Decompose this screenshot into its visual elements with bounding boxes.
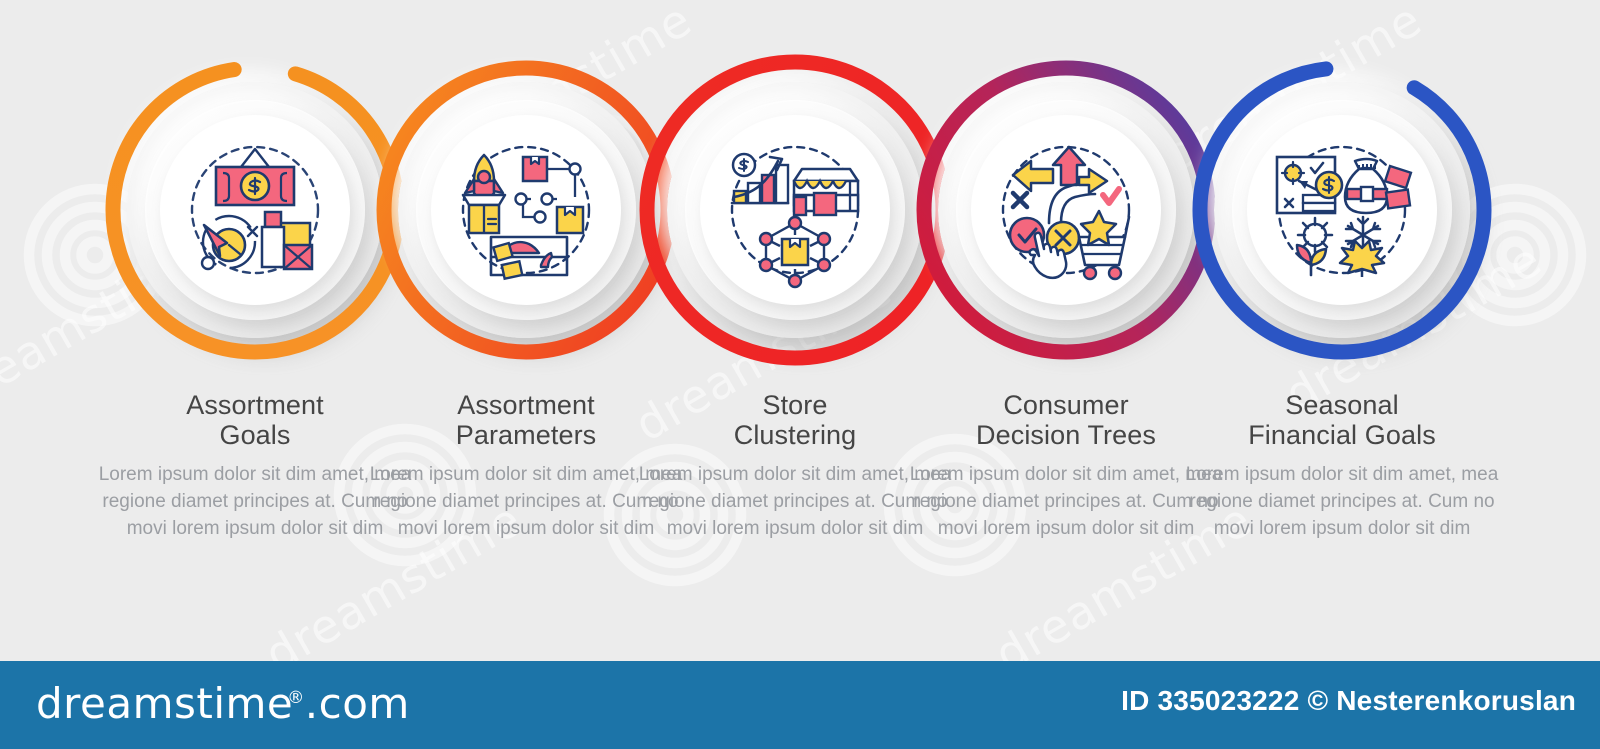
brand-name: dreamstime xyxy=(36,679,293,728)
step-1-progress-arc xyxy=(105,60,405,360)
step-5-title: SeasonalFinancial Goals xyxy=(1184,390,1500,450)
step-3-title: StoreClustering xyxy=(637,390,953,450)
step-4-progress-arc xyxy=(916,60,1216,360)
step-4-body: Lorem ipsum dolor sit dim amet, mea regi… xyxy=(908,462,1224,543)
step-1-body: Lorem ipsum dolor sit dim amet, mea regi… xyxy=(97,462,413,543)
step-4-title: ConsumerDecision Trees xyxy=(908,390,1224,450)
infographic-stage: AssortmentGoals Lorem ipsum dolor sit di… xyxy=(0,0,1600,749)
image-credit: ID 335023222 © Nesterenkoruslan xyxy=(1121,685,1576,717)
infographic-step-1[interactable]: AssortmentGoals Lorem ipsum dolor sit di… xyxy=(105,60,405,720)
step-5-progress-arc xyxy=(1192,60,1492,360)
infographic-step-2[interactable]: AssortmentParameters Lorem ipsum dolor s… xyxy=(376,60,676,720)
registered-mark-icon: ® xyxy=(287,688,305,708)
step-3-body: Lorem ipsum dolor sit dim amet, mea regi… xyxy=(637,462,953,543)
step-5-body: Lorem ipsum dolor sit dim amet, mea regi… xyxy=(1184,462,1500,543)
dreamstime-logo[interactable]: dreamstime®.com xyxy=(36,679,410,728)
step-3-caption: StoreClustering Lorem ipsum dolor sit di… xyxy=(637,390,953,543)
step-4-ring xyxy=(916,60,1216,360)
step-3-progress-arc xyxy=(645,60,945,360)
step-1-title: AssortmentGoals xyxy=(97,390,413,450)
step-2-progress-arc xyxy=(376,60,676,360)
brand-suffix: .com xyxy=(305,679,410,728)
step-5-caption: SeasonalFinancial Goals Lorem ipsum dolo… xyxy=(1184,390,1500,543)
infographic-step-3[interactable]: StoreClustering Lorem ipsum dolor sit di… xyxy=(645,60,945,720)
infographic-step-4[interactable]: ConsumerDecision Trees Lorem ipsum dolor… xyxy=(916,60,1216,720)
step-4-caption: ConsumerDecision Trees Lorem ipsum dolor… xyxy=(908,390,1224,543)
step-3-ring xyxy=(645,60,945,360)
step-1-ring xyxy=(105,60,405,360)
infographic-step-5[interactable]: SeasonalFinancial Goals Lorem ipsum dolo… xyxy=(1192,60,1492,720)
step-1-caption: AssortmentGoals Lorem ipsum dolor sit di… xyxy=(97,390,413,543)
step-5-ring xyxy=(1192,60,1492,360)
step-2-ring xyxy=(376,60,676,360)
stock-footer-bar: dreamstime®.com ID 335023222 © Nesterenk… xyxy=(0,661,1600,749)
